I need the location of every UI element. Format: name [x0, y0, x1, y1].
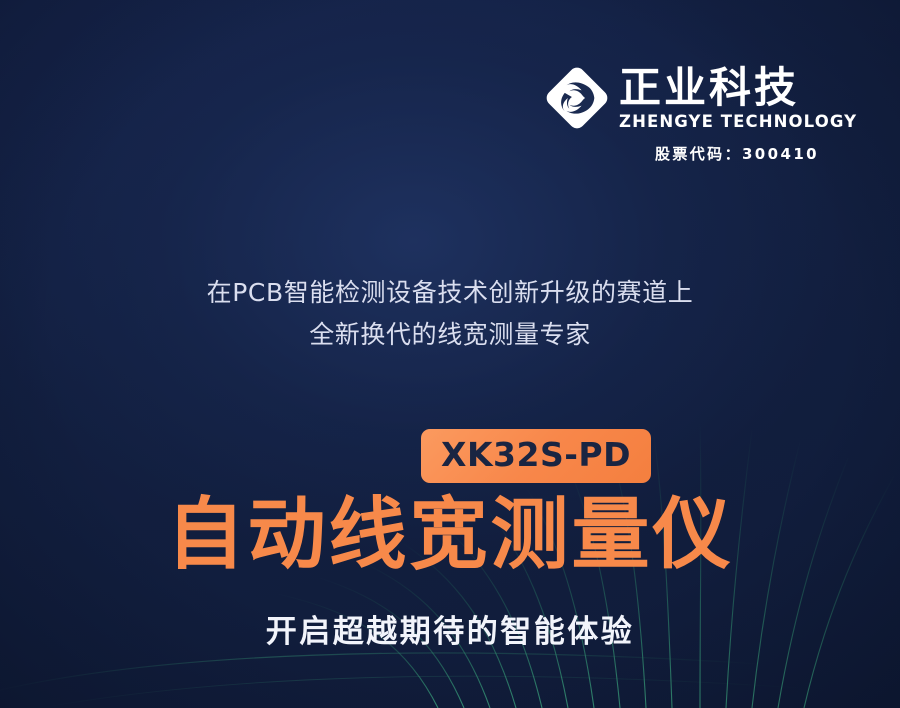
- brand-logo-row: 正业科技 ZHENGYE TECHNOLOGY: [541, 62, 821, 134]
- product-tagline: 开启超越期待的智能体验: [0, 610, 900, 654]
- product-title: 自动线宽测量仪: [0, 489, 900, 581]
- brand-logo-text: 正业科技 ZHENGYE TECHNOLOGY: [619, 65, 857, 132]
- hero-subtitle-line-1: 在PCB智能检测设备技术创新升级的赛道上: [0, 272, 900, 314]
- hero-subtitle-line-2: 全新换代的线宽测量专家: [0, 314, 900, 356]
- model-number-badge: XK32S-PD: [421, 429, 651, 483]
- model-badge-container: XK32S-PD: [0, 429, 900, 483]
- brand-name-cn: 正业科技: [619, 65, 857, 111]
- product-promo-banner: 正业科技 ZHENGYE TECHNOLOGY 股票代码：300410 在PCB…: [0, 0, 900, 708]
- zhengye-diamond-swirl-logo-icon: [541, 62, 613, 134]
- hero-subtitle: 在PCB智能检测设备技术创新升级的赛道上 全新换代的线宽测量专家: [0, 272, 900, 356]
- brand-logo-block: 正业科技 ZHENGYE TECHNOLOGY 股票代码：300410: [541, 62, 821, 172]
- stock-code-line: 股票代码：300410: [541, 143, 821, 164]
- brand-name-en: ZHENGYE TECHNOLOGY: [619, 112, 857, 132]
